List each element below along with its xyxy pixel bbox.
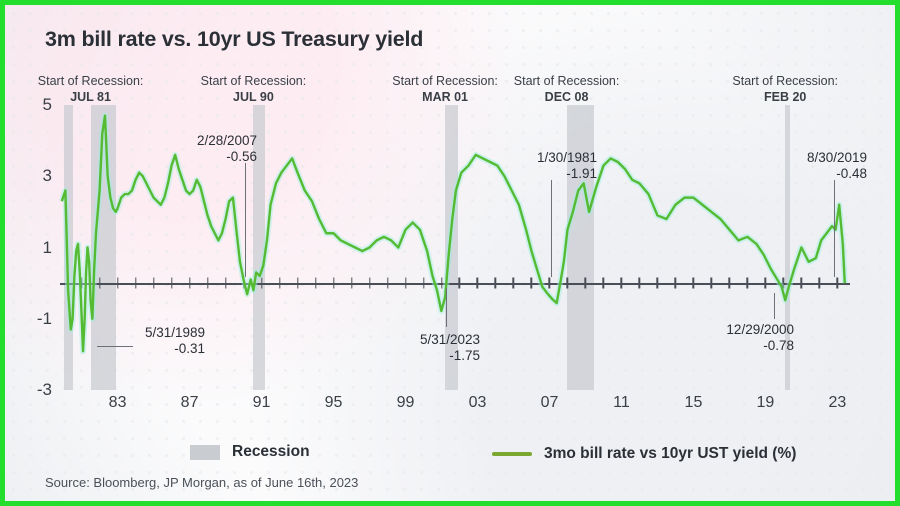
annotation-value: -1.75 bbox=[420, 348, 480, 364]
data-point-annotation: 12/29/2000-0.78 bbox=[726, 322, 794, 354]
annotation-value: -0.56 bbox=[197, 149, 257, 165]
x-axis-tick-label: 99 bbox=[397, 394, 415, 412]
recession-header-date: JUL 90 bbox=[233, 90, 274, 104]
recession-header: Start of Recession:MAR 01 bbox=[392, 73, 498, 106]
legend-series-label: 3mo bill rate vs 10yr UST yield (%) bbox=[544, 445, 796, 463]
annotation-value: -0.48 bbox=[807, 166, 867, 182]
x-axis-tick-label: 11 bbox=[613, 394, 630, 412]
recession-swatch bbox=[190, 445, 220, 460]
data-point-annotation: 5/31/2023-1.75 bbox=[420, 332, 480, 364]
recession-header-date: MAR 01 bbox=[422, 90, 468, 104]
source-note: Source: Bloomberg, JP Morgan, as of June… bbox=[45, 475, 358, 490]
y-axis-tick-label: -3 bbox=[37, 380, 52, 400]
data-point-annotation: 1/30/1981-1.91 bbox=[537, 150, 597, 182]
x-axis-tick-label: 19 bbox=[757, 394, 775, 412]
recession-header-date: FEB 20 bbox=[764, 90, 806, 104]
recession-header-caption: Start of Recession: bbox=[514, 73, 620, 89]
recession-header-caption: Start of Recession: bbox=[201, 73, 307, 89]
data-point-annotation: 5/31/1989-0.31 bbox=[145, 325, 205, 357]
recession-header-caption: Start of Recession: bbox=[392, 73, 498, 89]
page-title: 3m bill rate vs. 10yr US Treasury yield bbox=[45, 27, 423, 52]
annotation-date: 5/31/1989 bbox=[145, 325, 205, 341]
data-point-annotation: 8/30/2019-0.48 bbox=[807, 150, 867, 182]
annotation-leader-line bbox=[97, 346, 133, 347]
y-axis-tick-label: 1 bbox=[43, 238, 52, 258]
annotation-date: 1/30/1981 bbox=[537, 150, 597, 166]
annotation-leader-line bbox=[774, 293, 775, 319]
x-axis-tick-label: 95 bbox=[325, 394, 343, 412]
recession-header-date: JUL 81 bbox=[70, 90, 111, 104]
x-axis-tick-label: 87 bbox=[181, 394, 199, 412]
annotation-date: 8/30/2019 bbox=[807, 150, 867, 166]
annotation-date: 2/28/2007 bbox=[197, 133, 257, 149]
annotation-leader-line bbox=[834, 180, 835, 277]
recession-header-date: DEC 08 bbox=[545, 90, 589, 104]
x-axis-tick-label: 83 bbox=[109, 394, 127, 412]
annotation-date: 12/29/2000 bbox=[726, 322, 794, 338]
annotation-leader-line bbox=[551, 180, 552, 277]
recession-header: Start of Recession:FEB 20 bbox=[732, 73, 838, 106]
annotation-value: -0.78 bbox=[726, 338, 794, 354]
recession-header: Start of Recession:DEC 08 bbox=[514, 73, 620, 106]
annotation-leader-line bbox=[245, 163, 246, 277]
data-point-annotation: 2/28/2007-0.56 bbox=[197, 133, 257, 165]
x-axis-tick-label: 23 bbox=[828, 394, 846, 412]
series-line-fringe bbox=[62, 116, 845, 351]
annotation-leader-line bbox=[446, 288, 447, 327]
series-line-swatch bbox=[492, 452, 532, 455]
x-axis-tick-label: 03 bbox=[469, 394, 487, 412]
x-axis-tick-label: 15 bbox=[685, 394, 703, 412]
recession-header: Start of Recession:JUL 90 bbox=[201, 73, 307, 106]
y-axis-tick-label: 3 bbox=[43, 166, 52, 186]
legend-series: 3mo bill rate vs 10yr UST yield (%) bbox=[492, 445, 796, 463]
annotation-date: 5/31/2023 bbox=[420, 332, 480, 348]
annotation-value: -0.31 bbox=[145, 341, 205, 357]
recession-header-caption: Start of Recession: bbox=[732, 73, 838, 89]
x-axis-tick-label: 91 bbox=[253, 394, 271, 412]
legend-recession: Recession bbox=[190, 443, 310, 461]
x-axis-tick-label: 07 bbox=[541, 394, 559, 412]
recession-header-caption: Start of Recession: bbox=[38, 73, 144, 89]
chart-frame: 3m bill rate vs. 10yr US Treasury yield … bbox=[0, 0, 900, 506]
legend-recession-label: Recession bbox=[232, 443, 310, 461]
y-axis-tick-label: -1 bbox=[37, 309, 52, 329]
annotation-value: -1.91 bbox=[537, 166, 597, 182]
recession-header: Start of Recession:JUL 81 bbox=[38, 73, 144, 106]
